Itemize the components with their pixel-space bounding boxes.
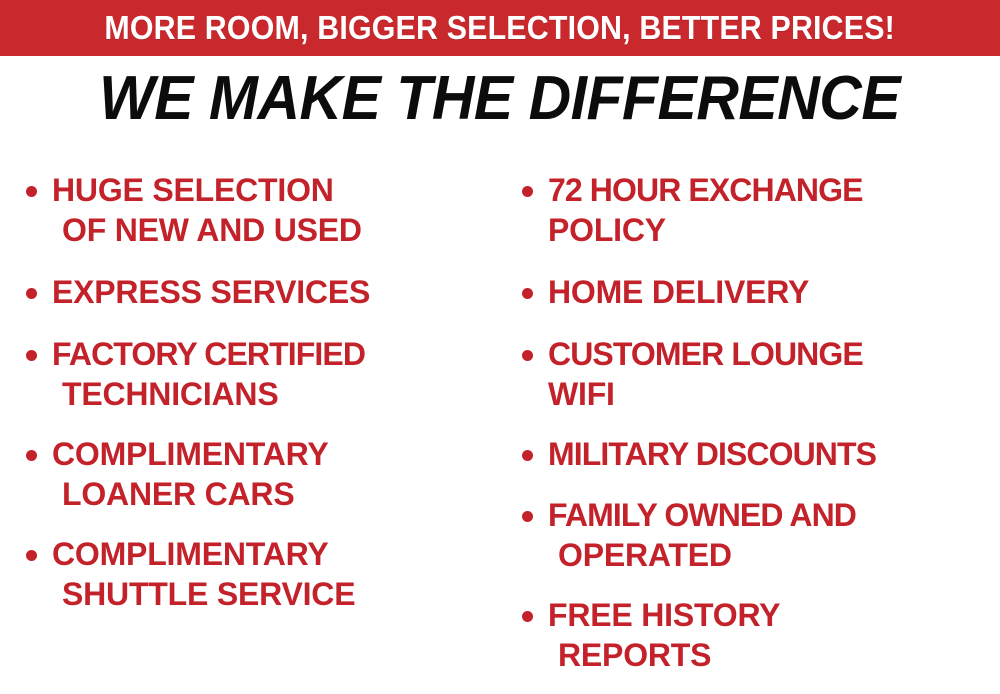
- list-item: HUGE SELECTION OF NEW AND USED: [14, 170, 500, 250]
- list-item: COMPLIMENTARY SHUTTLE SERVICE: [14, 534, 500, 614]
- list-item-text: FREE HISTORY REPORTS: [510, 595, 1000, 675]
- list-item-text: FAMILY OWNED AND OPERATED: [510, 495, 1000, 575]
- list-item-text: 72 HOUR EXCHANGE POLICY: [510, 170, 1000, 250]
- bullet-dot-icon: [26, 450, 37, 461]
- list-item-text: HUGE SELECTION OF NEW AND USED: [14, 170, 500, 250]
- list-item-line-1: HUGE SELECTION: [52, 170, 500, 210]
- page-title: WE MAKE THE DIFFERENCE: [0, 66, 1000, 132]
- list-item-line-1: COMPLIMENTARY: [52, 534, 500, 574]
- list-item: FACTORY CERTIFIED TECHNICIANS: [14, 334, 500, 414]
- list-item: COMPLIMENTARY LOANER CARS: [14, 434, 500, 514]
- promotional-banner-page: MORE ROOM, BIGGER SELECTION, BETTER PRIC…: [0, 0, 1000, 694]
- top-banner: MORE ROOM, BIGGER SELECTION, BETTER PRIC…: [0, 0, 1000, 56]
- list-item-line-1: EXPRESS SERVICES: [52, 272, 500, 312]
- list-item: FAMILY OWNED AND OPERATED: [510, 495, 1000, 575]
- list-item: 72 HOUR EXCHANGE POLICY: [510, 170, 1000, 250]
- top-banner-headline: MORE ROOM, BIGGER SELECTION, BETTER PRIC…: [105, 9, 896, 47]
- list-item-line-1: FACTORY CERTIFIED: [52, 334, 500, 374]
- list-item: FREE HISTORY REPORTS: [510, 595, 1000, 675]
- list-item-text: CUSTOMER LOUNGE WIFI: [510, 334, 1000, 414]
- list-item-line-2: POLICY: [548, 210, 1000, 250]
- list-item-line-2: SHUTTLE SERVICE: [52, 574, 500, 614]
- list-item-line-2: OPERATED: [548, 535, 1000, 575]
- bullet-dot-icon: [26, 550, 37, 561]
- bullet-dot-icon: [522, 186, 533, 197]
- list-item-line-1: CUSTOMER LOUNGE: [548, 334, 1000, 374]
- list-item-text: MILITARY DISCOUNTS: [510, 434, 1000, 474]
- list-item-text: COMPLIMENTARY SHUTTLE SERVICE: [14, 534, 500, 614]
- list-item-line-2: WIFI: [548, 374, 1000, 414]
- bullet-dot-icon: [26, 350, 37, 361]
- list-item-line-1: MILITARY DISCOUNTS: [548, 434, 1000, 474]
- bullet-dot-icon: [522, 288, 533, 299]
- list-item-line-1: FREE HISTORY: [548, 595, 1000, 635]
- list-item-line-1: FAMILY OWNED AND: [548, 495, 1000, 535]
- list-item-line-2: TECHNICIANS: [52, 374, 500, 414]
- list-item-line-1: COMPLIMENTARY: [52, 434, 500, 474]
- page-title-text: WE MAKE THE DIFFERENCE: [99, 66, 900, 132]
- list-item-text: HOME DELIVERY: [510, 272, 1000, 312]
- list-item-line-2: OF NEW AND USED: [52, 210, 500, 250]
- bullet-dot-icon: [26, 186, 37, 197]
- list-item-line-1: 72 HOUR EXCHANGE: [548, 170, 1000, 210]
- list-item: CUSTOMER LOUNGE WIFI: [510, 334, 1000, 414]
- bullet-dot-icon: [522, 350, 533, 361]
- bullet-dot-icon: [522, 611, 533, 622]
- bullet-dot-icon: [522, 511, 533, 522]
- bullet-dot-icon: [26, 288, 37, 299]
- list-item-text: EXPRESS SERVICES: [14, 272, 500, 312]
- list-item: EXPRESS SERVICES: [14, 272, 500, 312]
- list-item-line-1: HOME DELIVERY: [548, 272, 1000, 312]
- list-item-line-2: LOANER CARS: [52, 474, 500, 514]
- list-item: HOME DELIVERY: [510, 272, 1000, 312]
- list-item-text: FACTORY CERTIFIED TECHNICIANS: [14, 334, 500, 414]
- list-item-line-2: REPORTS: [548, 635, 1000, 675]
- list-item-text: COMPLIMENTARY LOANER CARS: [14, 434, 500, 514]
- bullet-dot-icon: [522, 450, 533, 461]
- list-item: MILITARY DISCOUNTS: [510, 434, 1000, 474]
